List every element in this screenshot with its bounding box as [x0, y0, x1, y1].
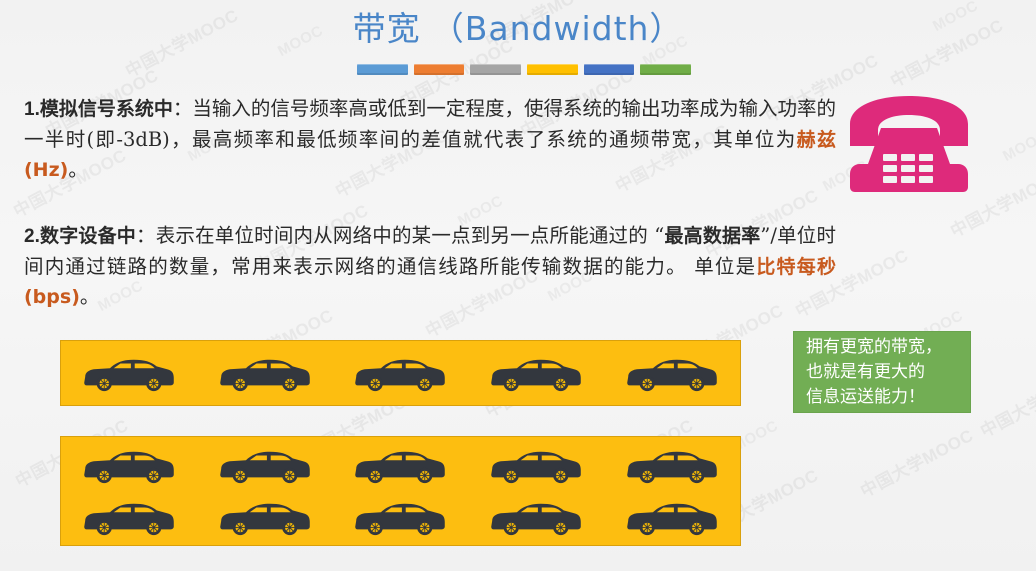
- callout-line-2: 也就是有更大的: [806, 360, 970, 385]
- divider-segment-1: [357, 64, 408, 75]
- car-icon: [624, 354, 720, 394]
- car-slot: [604, 446, 740, 486]
- car-slot: [197, 446, 333, 486]
- paragraph1-colon: ：: [173, 97, 193, 120]
- car-slot: [197, 354, 333, 394]
- car-slot: [61, 446, 197, 486]
- car-slot: [333, 446, 469, 486]
- car-slot: [197, 498, 333, 538]
- car-slot: [61, 498, 197, 538]
- paragraph2-lead: 数字设备中: [40, 225, 136, 247]
- telephone-icon: [840, 94, 978, 194]
- paragraph1-lead: 模拟信号系统中: [40, 98, 173, 120]
- car-icon: [488, 498, 584, 538]
- car-slot: [61, 354, 197, 394]
- slide-canvas: 中国大学MOOC中国大学MOOCMOOC中国大学MOOC中国大学MOOCMOOC…: [0, 0, 1036, 571]
- paragraph2-text-a: 表示在单位时间内从网络中的某一点到另一点所能通过的 “: [156, 224, 665, 247]
- bandwidth-lane-narrow: [60, 340, 741, 406]
- divider-segment-5: [584, 64, 635, 75]
- car-slot: [468, 498, 604, 538]
- callout-box: 拥有更宽的带宽，也就是有更大的信息运送能力！: [793, 331, 971, 413]
- divider-segment-6: [640, 64, 691, 75]
- paragraph2-tail: 。: [80, 285, 100, 308]
- car-slot: [604, 498, 740, 538]
- car-icon: [352, 498, 448, 538]
- car-icon: [81, 354, 177, 394]
- page-title-space: [421, 10, 431, 47]
- car-slot: [468, 446, 604, 486]
- car-lane-row: [61, 490, 740, 545]
- divider-segment-4: [527, 64, 578, 75]
- car-icon: [352, 446, 448, 486]
- divider-segment-2: [414, 64, 465, 75]
- paragraph-digital-device: 2.数字设备中：表示在单位时间内从网络中的某一点到另一点所能通过的 “最高数据率…: [24, 221, 836, 312]
- car-slot: [604, 354, 740, 394]
- bandwidth-lane-wide: [60, 436, 741, 546]
- title-divider-bar: [357, 64, 691, 75]
- car-icon: [624, 498, 720, 538]
- callout-line-1: 拥有更宽的带宽，: [806, 335, 970, 360]
- car-icon: [217, 498, 313, 538]
- car-slot: [333, 354, 469, 394]
- page-title: 带宽 （Bandwidth）: [353, 8, 684, 49]
- car-lane-row: [61, 346, 740, 401]
- car-icon: [217, 446, 313, 486]
- car-slot: [468, 354, 604, 394]
- car-lane-row: [61, 438, 740, 493]
- paragraph2-colon: ：: [136, 224, 156, 247]
- car-slot: [333, 498, 469, 538]
- paragraph-analog-signal: 1.模拟信号系统中：当输入的信号频率高或低到一定程度，使得系统的输出功率成为输入…: [24, 94, 836, 185]
- car-icon: [352, 354, 448, 394]
- paragraph1-number: 1.: [24, 99, 40, 120]
- watermark-text: 中国大学MOOC: [975, 361, 1036, 442]
- car-icon: [488, 446, 584, 486]
- paragraph1-tail: 。: [68, 158, 88, 181]
- watermark-text: MOOC: [1000, 127, 1036, 165]
- page-title-en: （Bandwidth）: [431, 9, 684, 48]
- car-icon: [624, 446, 720, 486]
- car-icon: [217, 354, 313, 394]
- car-icon: [488, 354, 584, 394]
- paragraph2-number: 2.: [24, 226, 40, 247]
- page-title-cjk: 带宽: [353, 9, 421, 48]
- car-icon: [81, 498, 177, 538]
- watermark-text: 中国大学MOOC: [855, 421, 977, 502]
- callout-line-3: 信息运送能力！: [806, 385, 970, 410]
- car-icon: [81, 446, 177, 486]
- divider-segment-3: [470, 64, 521, 75]
- slide-title-area: 带宽 （Bandwidth）: [0, 8, 1036, 49]
- paragraph2-bold-max-rate: 最高数据率: [664, 225, 760, 247]
